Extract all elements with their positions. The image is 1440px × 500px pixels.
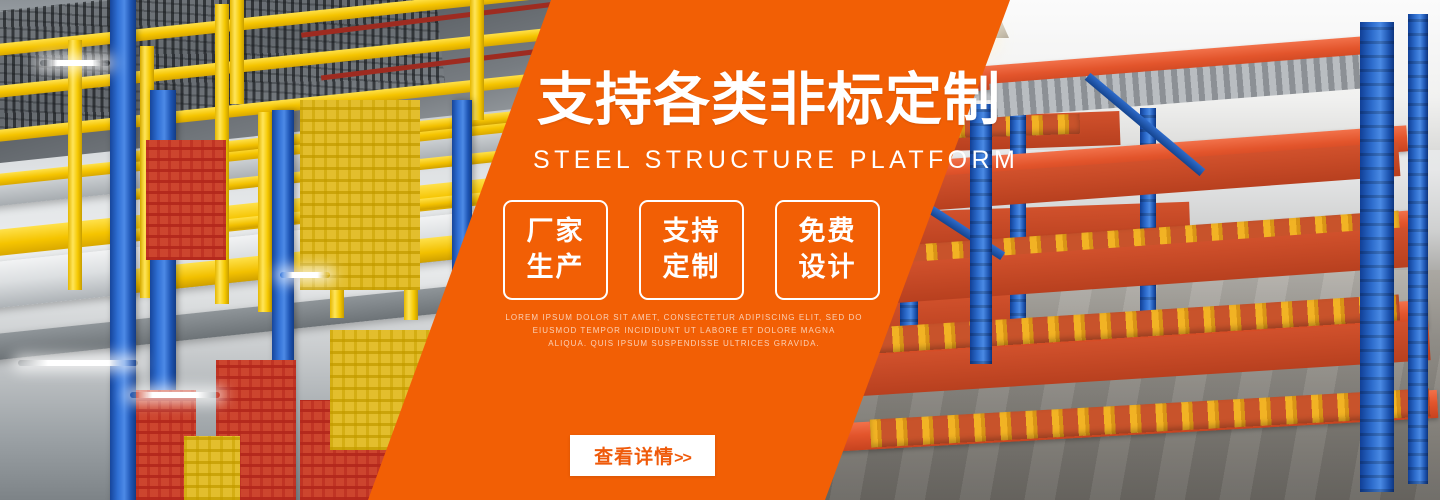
view-details-button[interactable]: 查看详情>> (570, 435, 715, 476)
feature-box-line1: 免费 (799, 214, 857, 250)
feature-box-line2: 生产 (527, 250, 585, 286)
feature-box-line2: 定制 (663, 250, 721, 286)
feature-box-line2: 设计 (799, 250, 857, 286)
feature-box-free-design[interactable]: 免费 设计 (775, 200, 880, 300)
cta-button-label: 查看详情>> (594, 442, 691, 469)
feature-box-manufacturing[interactable]: 厂家 生产 (503, 200, 608, 300)
cta-text: 查看详情 (594, 447, 674, 468)
page-title: 支持各类非标定制 (537, 72, 1001, 129)
description-line-3: ALIQUA. QUIS IPSUM SUSPENDISSE ULTRICES … (449, 338, 919, 351)
description-line-2: EIUSMOD TEMPOR INCIDIDUNT UT LABORE ET D… (449, 325, 919, 338)
feature-box-customization[interactable]: 支持 定制 (639, 200, 744, 300)
promo-banner: 支持各类非标定制 STEEL STRUCTURE PLATFORM 厂家 生产 … (0, 0, 1440, 500)
feature-box-line1: 厂家 (527, 214, 585, 250)
subtitle: STEEL STRUCTURE PLATFORM (533, 146, 1019, 175)
double-chevron-right-icon: >> (674, 450, 691, 467)
description-line-1: LOREM IPSUM DOLOR SIT AMET, CONSECTETUR … (449, 312, 919, 325)
feature-box-line1: 支持 (663, 214, 721, 250)
banner-content: 支持各类非标定制 STEEL STRUCTURE PLATFORM 厂家 生产 … (0, 0, 1440, 500)
description-text: LOREM IPSUM DOLOR SIT AMET, CONSECTETUR … (449, 312, 919, 351)
feature-box-group: 厂家 生产 支持 定制 免费 设计 (503, 200, 880, 300)
